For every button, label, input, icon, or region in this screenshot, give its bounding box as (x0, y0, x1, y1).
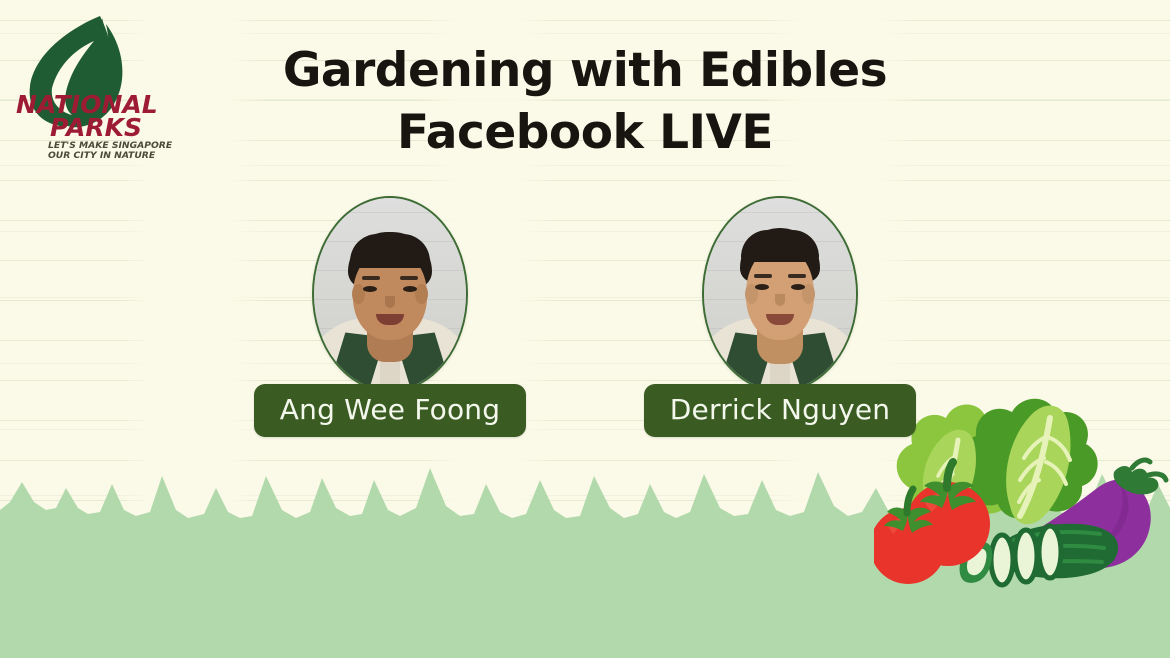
portrait-ang-wee-foong (312, 196, 468, 392)
speaker-card-1: Ang Wee Foong (270, 196, 510, 437)
national-parks-logo: NATIONAL PARKS LET'S MAKE SINGAPORE OUR … (8, 8, 176, 158)
logo-wordmark-line2: PARKS (50, 113, 142, 142)
logo-tagline-line2: OUR CITY IN NATURE (48, 150, 156, 158)
slide-canvas: NATIONAL PARKS LET'S MAKE SINGAPORE OUR … (0, 0, 1170, 658)
speaker-nameplate-1: Ang Wee Foong (254, 384, 526, 437)
speakers-row: Ang Wee Foong (0, 196, 1170, 437)
speaker-card-2: Derrick Nguyen (660, 196, 900, 437)
speaker-nameplate-2: Derrick Nguyen (644, 384, 916, 437)
portrait-derrick-nguyen (702, 196, 858, 392)
